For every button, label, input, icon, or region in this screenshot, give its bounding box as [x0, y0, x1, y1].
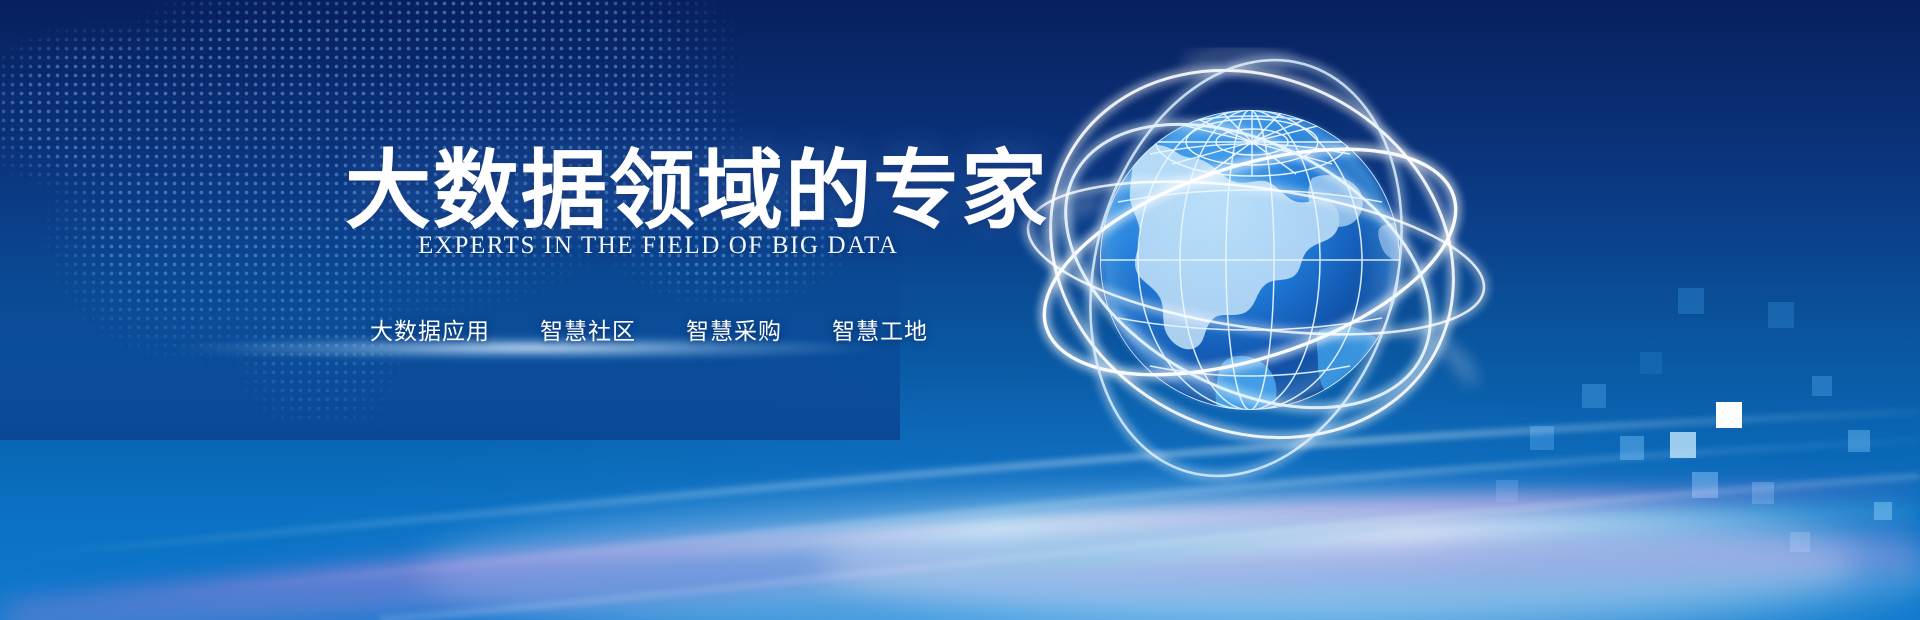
decorative-squares-icon — [1460, 280, 1920, 620]
banner-nav: 大数据应用 智慧社区 智慧采购 智慧工地 — [370, 312, 928, 346]
nav-item-smart-construction-site[interactable]: 智慧工地 — [832, 312, 928, 346]
globe-wireframe-icon — [990, 30, 1530, 550]
nav-item-bigdata-application[interactable]: 大数据应用 — [370, 312, 490, 346]
page-subtitle: EXPERTS IN THE FIELD OF BIG DATA — [418, 232, 899, 260]
nav-item-smart-procurement[interactable]: 智慧采购 — [686, 312, 782, 346]
big-data-banner: 大数据领域的专家 EXPERTS IN THE FIELD OF BIG DAT… — [0, 0, 1920, 620]
nav-item-smart-community[interactable]: 智慧社区 — [540, 312, 636, 346]
banner-content: 大数据领域的专家 EXPERTS IN THE FIELD OF BIG DAT… — [0, 0, 1000, 620]
page-title: 大数据领域的专家 — [345, 148, 1049, 234]
